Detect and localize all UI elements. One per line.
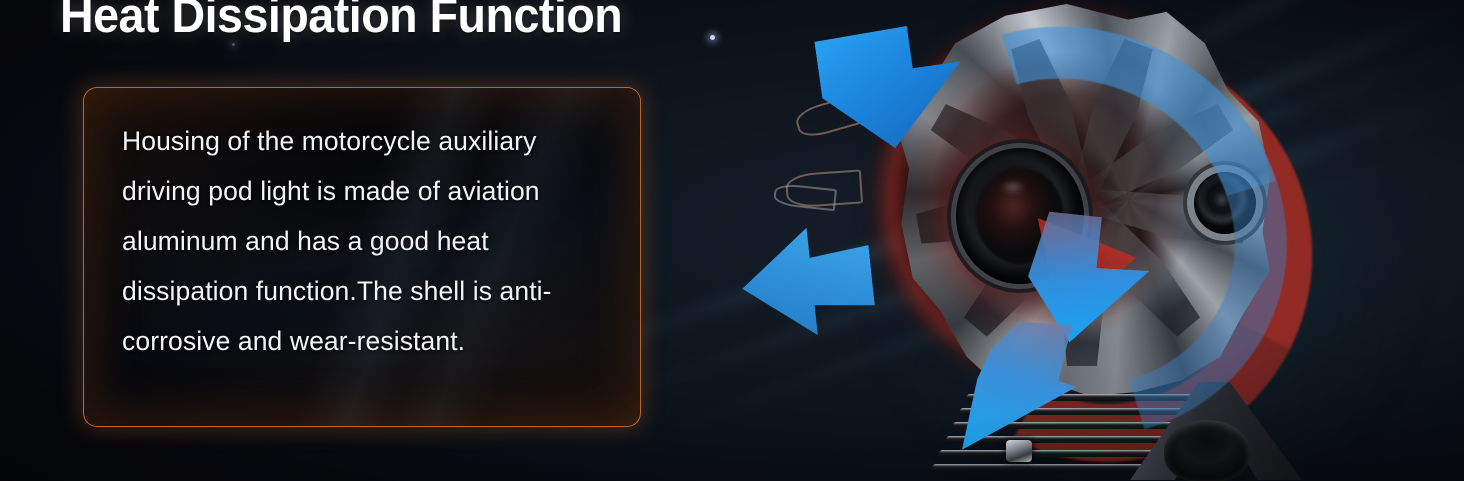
product-image-pod-light <box>760 0 1464 481</box>
mounting-screw <box>1006 440 1032 462</box>
mounting-bracket-hole <box>1164 420 1250 481</box>
description-text: Housing of the motorcycle auxiliary driv… <box>122 116 608 366</box>
page-title: Heat Dissipation Function <box>60 0 622 47</box>
heat-dissipation-banner: Heat Dissipation Function Housing of the… <box>0 0 1464 481</box>
description-panel: Housing of the motorcycle auxiliary driv… <box>83 87 641 427</box>
light-speck <box>710 35 715 40</box>
